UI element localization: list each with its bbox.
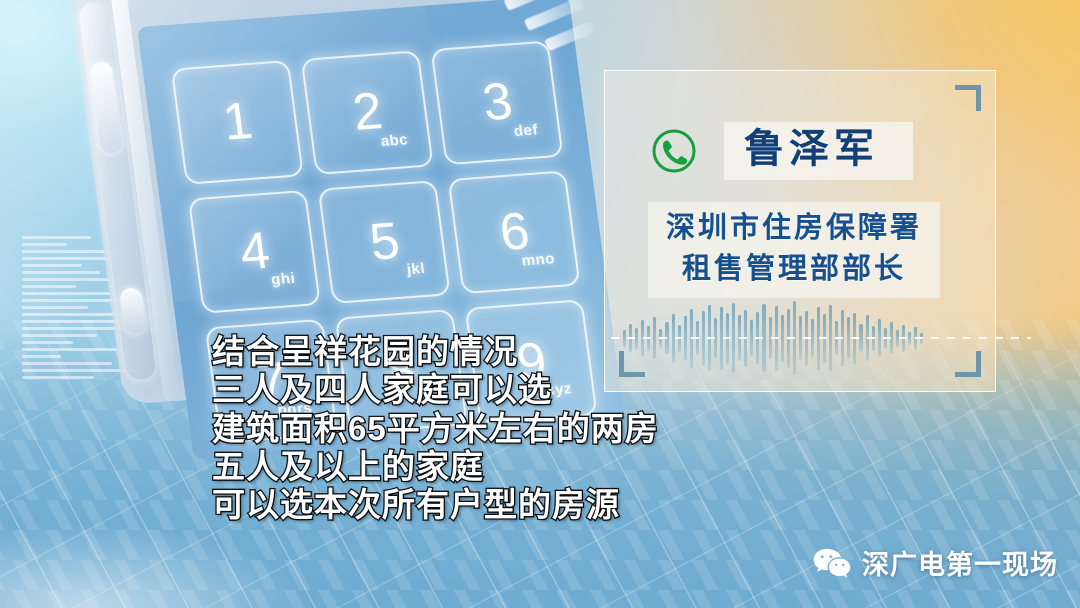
subtitle-line: 五人及以上的家庭 bbox=[212, 448, 852, 486]
dialpad-key-6[interactable]: 6 mno bbox=[448, 170, 581, 295]
guest-title-line-2: 租售管理部部长 bbox=[666, 249, 922, 290]
subtitle-line: 结合呈祥花园的情况 bbox=[212, 333, 852, 371]
watermark-label: 深广电第一现场 bbox=[862, 543, 1058, 582]
guest-title-line-1: 深圳市住房保障署 bbox=[666, 208, 922, 249]
dialpad-key-5[interactable]: 5 jkl bbox=[318, 180, 451, 305]
dialpad-key-digit: 6 bbox=[497, 205, 532, 259]
dialpad-key-4[interactable]: 4 ghi bbox=[188, 190, 321, 315]
guest-name: 鲁泽军 bbox=[744, 126, 879, 172]
dialpad-key-letters: jkl bbox=[406, 260, 426, 278]
subtitle-block: 结合呈祥花园的情况 三人及四人家庭可以选 建筑面积65平方米左右的两房 五人及以… bbox=[212, 333, 852, 524]
guest-title-plate: 深圳市住房保障署 租售管理部部长 bbox=[648, 202, 940, 298]
dialpad-key-2[interactable]: 2 abc bbox=[301, 50, 434, 175]
subtitle-line: 建筑面积65平方米左右的两房 bbox=[212, 410, 852, 448]
dialpad-key-letters: def bbox=[513, 121, 539, 140]
dialpad-key-digit: 5 bbox=[367, 215, 402, 269]
phone-call-icon bbox=[650, 127, 698, 175]
dialpad-key-letters: ghi bbox=[270, 270, 296, 289]
corner-bracket-top-right bbox=[955, 85, 981, 111]
dialpad-key-digit: 2 bbox=[350, 86, 385, 140]
wechat-icon bbox=[812, 547, 852, 579]
dialpad-key-1[interactable]: 1 bbox=[171, 60, 304, 185]
dialpad-key-digit: 4 bbox=[237, 225, 272, 279]
dialpad-key-digit: 3 bbox=[480, 76, 515, 130]
guest-name-row: 鲁泽军 bbox=[650, 122, 913, 180]
dialpad-key-letters: mno bbox=[521, 251, 556, 270]
corner-bracket-bottom-right bbox=[955, 351, 981, 377]
dialpad-key-letters: abc bbox=[380, 131, 410, 150]
subtitle-line: 可以选本次所有户型的房源 bbox=[212, 486, 852, 524]
dialpad-key-digit: 1 bbox=[220, 95, 255, 149]
broadcast-frame: 1 2 abc 3 def 4 ghi 5 jkl bbox=[0, 0, 1080, 608]
guest-name-plate: 鲁泽军 bbox=[724, 122, 913, 180]
subtitle-line: 三人及四人家庭可以选 bbox=[212, 371, 852, 409]
channel-watermark: 深广电第一现场 bbox=[812, 543, 1058, 582]
